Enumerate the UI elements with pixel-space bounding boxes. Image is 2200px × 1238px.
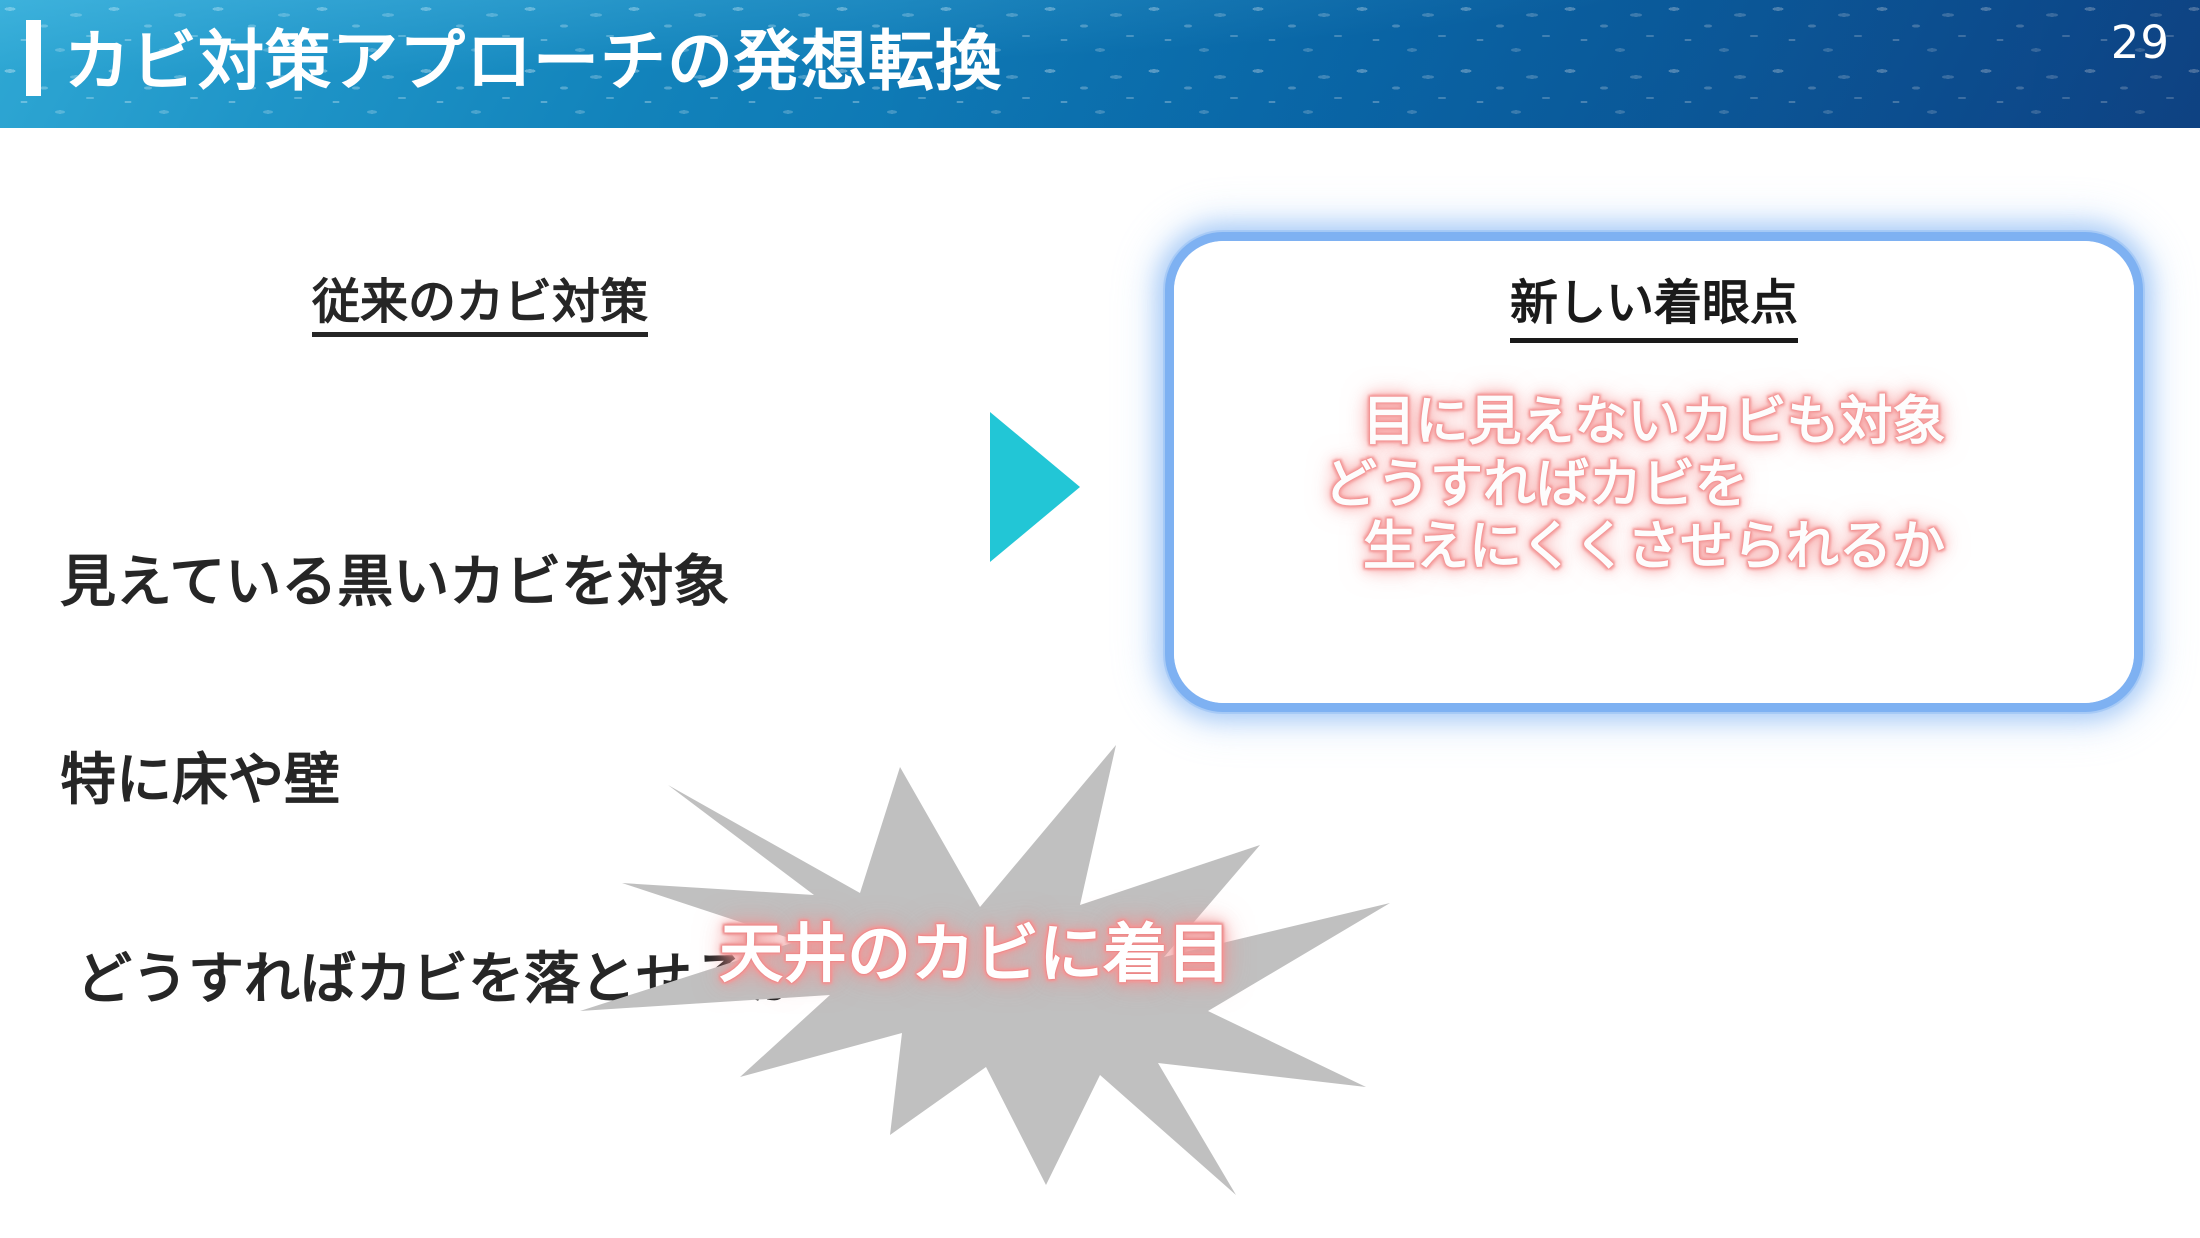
title-accent-bar-icon	[26, 20, 41, 96]
starburst-label: 天井のカビに着目	[560, 903, 1390, 995]
slide-header-band: カビ対策アプローチの発想転換 29	[0, 0, 2200, 128]
page-number: 29	[2111, 16, 2170, 69]
traditional-approach-heading: 従来のカビ対策	[312, 278, 648, 337]
new-viewpoint-body: 目に見えないカビも対象 どうすればカビを 生えにくくさせられるか	[1174, 391, 2134, 579]
new-viewpoint-line-2: どうすればカビを	[1174, 454, 2134, 517]
new-viewpoint-line-1: 目に見えないカビも対象	[1174, 391, 2134, 454]
starburst-callout: 天井のカビに着目	[560, 715, 1390, 1195]
page-title: カビ対策アプローチの発想転換	[64, 8, 1002, 116]
new-viewpoint-line-3: 生えにくくさせられるか	[1174, 516, 2134, 579]
new-viewpoint-box: 新しい着眼点 目に見えないカビも対象 どうすればカビを 生えにくくさせられるか	[1165, 232, 2143, 712]
new-viewpoint-heading: 新しい着眼点	[1174, 279, 2134, 327]
new-viewpoint-heading-text: 新しい着眼点	[1510, 275, 1798, 343]
right-triangle-arrow-icon	[990, 412, 1080, 562]
slide-canvas: カビ対策アプローチの発想転換 29 従来のカビ対策 見えている黒いカビを対象 特…	[0, 0, 2200, 1238]
traditional-approach-column: 従来のカビ対策 見えている黒いカビを対象 特に床や壁 どうすればカビを落とせるか	[0, 128, 960, 688]
traditional-body-line-1: 見えている黒いカビを対象	[60, 550, 940, 616]
